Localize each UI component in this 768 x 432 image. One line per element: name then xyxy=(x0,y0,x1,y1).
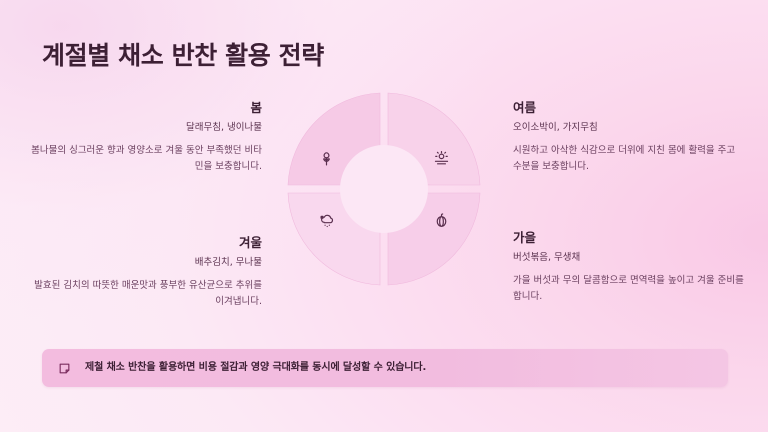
season-description-autumn: 가을 버섯과 무의 달콤함으로 면역력을 높이고 겨울 준비를 합니다. xyxy=(513,273,745,304)
page-title: 계절별 채소 반찬 활용 전략 xyxy=(42,36,324,72)
season-block-winter: 겨울 배추김치, 무나물 발효된 김치의 따뜻한 매운맛과 풍부한 유산균으로 … xyxy=(30,236,262,309)
season-block-summer: 여름 오이소박이, 가지무침 시원하고 아삭한 식감으로 더위에 지친 몸에 활… xyxy=(513,101,745,174)
season-description-winter: 발효된 김치의 따뜻한 매운맛과 풍부한 유산균으로 추위를 이겨냅니다. xyxy=(30,278,262,309)
donut-inner-circle xyxy=(340,145,428,233)
season-title-summer: 여름 xyxy=(513,101,745,115)
season-dishes-autumn: 버섯볶음, 무생채 xyxy=(513,252,745,263)
pumpkin-icon xyxy=(428,207,454,233)
season-block-autumn: 가을 버섯볶음, 무생채 가을 버섯과 무의 달콤함으로 면역력을 높이고 겨울… xyxy=(513,231,745,304)
slide-canvas: 계절별 채소 반찬 활용 전략 봄 달래무침, 냉이나물 봄나물의 싱그러운 향… xyxy=(0,0,768,432)
season-dishes-spring: 달래무침, 냉이나물 xyxy=(30,122,262,133)
season-title-winter: 겨울 xyxy=(30,236,262,250)
sunrise-icon xyxy=(428,145,454,171)
season-dishes-winter: 배추김치, 무나물 xyxy=(30,257,262,268)
season-donut-diagram xyxy=(283,88,485,290)
note-icon xyxy=(58,362,71,375)
snow-cloud-icon xyxy=(313,207,339,233)
season-title-spring: 봄 xyxy=(30,101,262,115)
season-title-autumn: 가을 xyxy=(513,231,745,245)
season-dishes-summer: 오이소박이, 가지무침 xyxy=(513,122,745,133)
season-block-spring: 봄 달래무침, 냉이나물 봄나물의 싱그러운 향과 영양소로 겨울 동안 부족했… xyxy=(30,101,262,174)
season-description-spring: 봄나물의 싱그러운 향과 영양소로 겨울 동안 부족했던 비타민을 보충합니다. xyxy=(30,143,262,174)
flower-icon xyxy=(313,145,339,171)
season-description-summer: 시원하고 아삭한 식감으로 더위에 지친 몸에 활력을 주고 수분을 보충합니다… xyxy=(513,143,745,174)
summary-banner: 제철 채소 반찬을 활용하면 비용 절감과 영양 극대화를 동시에 달성할 수 … xyxy=(42,349,728,387)
summary-banner-text: 제철 채소 반찬을 활용하면 비용 절감과 영양 극대화를 동시에 달성할 수 … xyxy=(85,362,426,374)
